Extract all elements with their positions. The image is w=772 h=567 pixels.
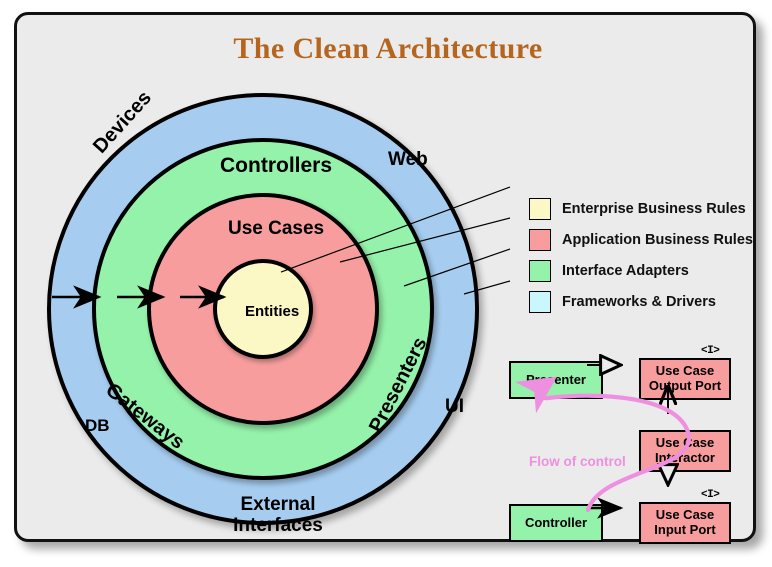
page-title: The Clean Architecture (17, 32, 759, 66)
box-interactor-label: Use Case Interactor (655, 436, 715, 465)
box-presenter: Presenter (509, 361, 603, 399)
legend-swatch-enterprise (529, 198, 551, 220)
legend-label-interface-adapters: Interface Adapters (562, 263, 689, 279)
box-input-port-label: Use Case Input Port (654, 508, 715, 537)
diagram-card: The Clean Architecture Controllers Use C… (14, 12, 756, 542)
legend-item-interface-adapters: Interface Adapters (529, 257, 753, 284)
box-controller: Controller (509, 504, 603, 542)
box-interactor-line1: Use Case (656, 435, 715, 450)
label-controllers: Controllers (220, 154, 332, 178)
label-external-line2: Interfaces (233, 515, 323, 536)
box-use-case-interactor: Use Case Interactor (639, 430, 731, 472)
label-use-cases: Use Cases (228, 218, 324, 240)
label-web: Web (388, 149, 428, 171)
label-db: DB (85, 416, 110, 436)
box-use-case-output-port: Use Case Output Port (639, 358, 731, 400)
legend-label-frameworks: Frameworks & Drivers (562, 294, 716, 310)
legend-swatch-application (529, 229, 551, 251)
interface-marker-output-port: <I> (701, 345, 719, 357)
box-output-port-line2: Output Port (649, 378, 721, 393)
label-external-line1: External (241, 494, 316, 515)
legend-item-application-business-rules: Application Business Rules (529, 226, 753, 253)
box-input-port-line2: Input Port (654, 522, 715, 537)
legend-swatch-interface-adapters (529, 260, 551, 282)
box-output-port-line1: Use Case (656, 363, 715, 378)
box-use-case-input-port: Use Case Input Port (639, 502, 731, 544)
legend-item-frameworks-drivers: Frameworks & Drivers (529, 288, 753, 315)
legend: Enterprise Business Rules Application Bu… (529, 195, 753, 319)
box-interactor-line2: Interactor (655, 450, 715, 465)
label-external-interfaces: External Interfaces (232, 494, 324, 537)
box-input-port-line1: Use Case (656, 507, 715, 522)
legend-label-enterprise: Enterprise Business Rules (562, 201, 746, 217)
interface-marker-input-port: <I> (701, 489, 719, 501)
diagram-canvas: The Clean Architecture Controllers Use C… (0, 0, 772, 567)
legend-swatch-frameworks (529, 291, 551, 313)
box-presenter-label: Presenter (526, 373, 586, 388)
box-controller-label: Controller (525, 516, 587, 531)
label-ui: UI (445, 396, 464, 418)
legend-item-enterprise-business-rules: Enterprise Business Rules (529, 195, 753, 222)
legend-label-application: Application Business Rules (562, 232, 753, 248)
box-output-port-label: Use Case Output Port (649, 364, 721, 393)
label-entities: Entities (245, 303, 299, 320)
flow-of-control-label: Flow of control (529, 454, 626, 469)
